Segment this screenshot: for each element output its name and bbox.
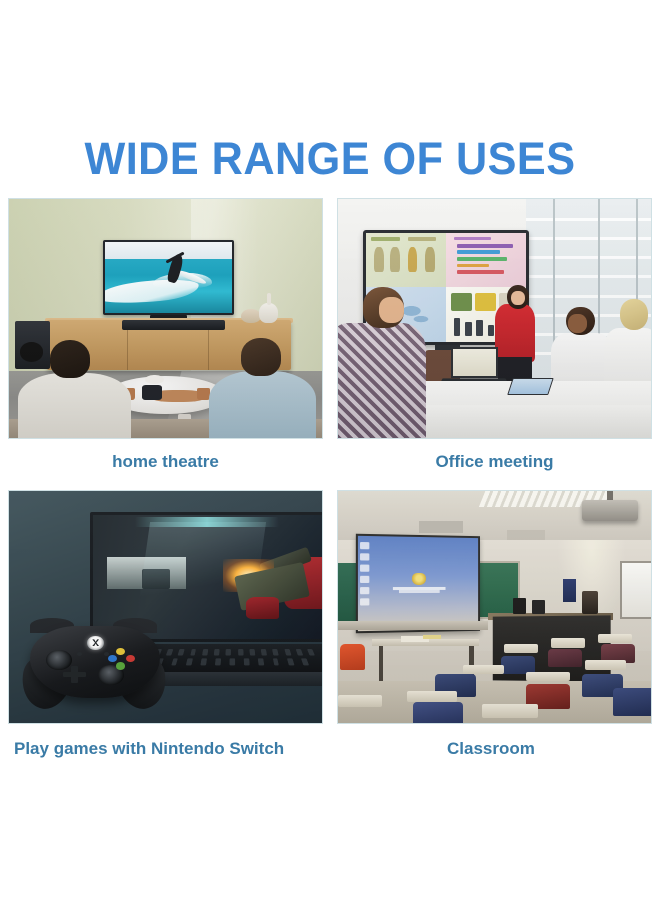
caption-gaming: Play games with Nintendo Switch	[14, 739, 284, 759]
panel-gaming[interactable]	[8, 490, 323, 724]
panel-home-theatre[interactable]	[8, 198, 323, 439]
home-theatre-scene	[9, 199, 322, 438]
panel-shading	[9, 491, 322, 723]
office-meeting-scene	[338, 199, 651, 438]
panel-shading	[338, 491, 651, 723]
caption-classroom: Classroom	[447, 739, 535, 759]
caption-office-meeting: Office meeting	[337, 452, 652, 472]
marketing-page: WIDE RANGE OF USES	[0, 0, 660, 900]
classroom-scene	[338, 491, 651, 723]
panel-shading	[338, 199, 651, 438]
caption-home-theatre: home theatre	[8, 452, 323, 472]
page-title: WIDE RANGE OF USES	[13, 133, 647, 185]
panel-shading	[9, 199, 322, 438]
gaming-scene	[9, 491, 322, 723]
panel-classroom[interactable]	[337, 490, 652, 724]
panel-office-meeting[interactable]	[337, 198, 652, 439]
